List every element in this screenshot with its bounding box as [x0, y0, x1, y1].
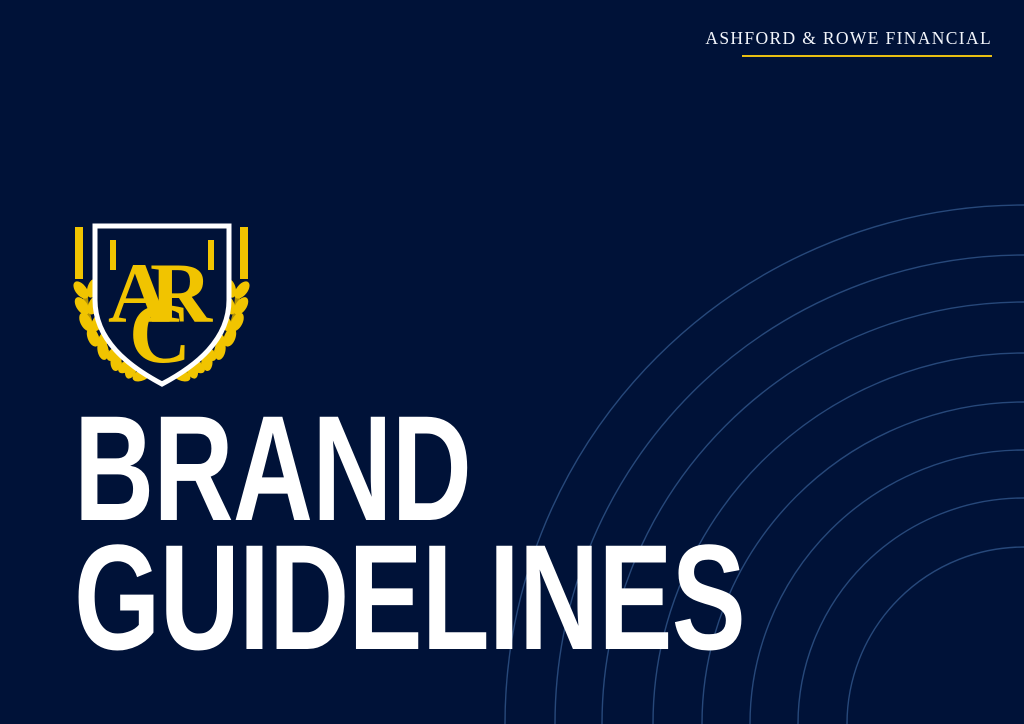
monogram-letter-c: C [129, 285, 191, 381]
page-title: BRAND GUIDELINES [74, 404, 634, 662]
crest-logo: A R C [62, 214, 262, 396]
header-wordmark: ASHFORD & ROWE FINANCIAL [705, 30, 992, 57]
company-name: ASHFORD & ROWE FINANCIAL [705, 30, 992, 48]
arc-ring [798, 498, 1024, 724]
crest-bar-left-outer [75, 227, 83, 279]
arc-ring [750, 450, 1024, 724]
crest-bar-right-outer [240, 227, 248, 279]
wordmark-underline-rule [742, 55, 992, 57]
cover-page: ASHFORD & ROWE FINANCIAL [0, 0, 1024, 724]
title-line-guidelines: GUIDELINES [74, 533, 488, 662]
arc-ring [702, 402, 1024, 724]
arc-ring [847, 547, 1024, 724]
